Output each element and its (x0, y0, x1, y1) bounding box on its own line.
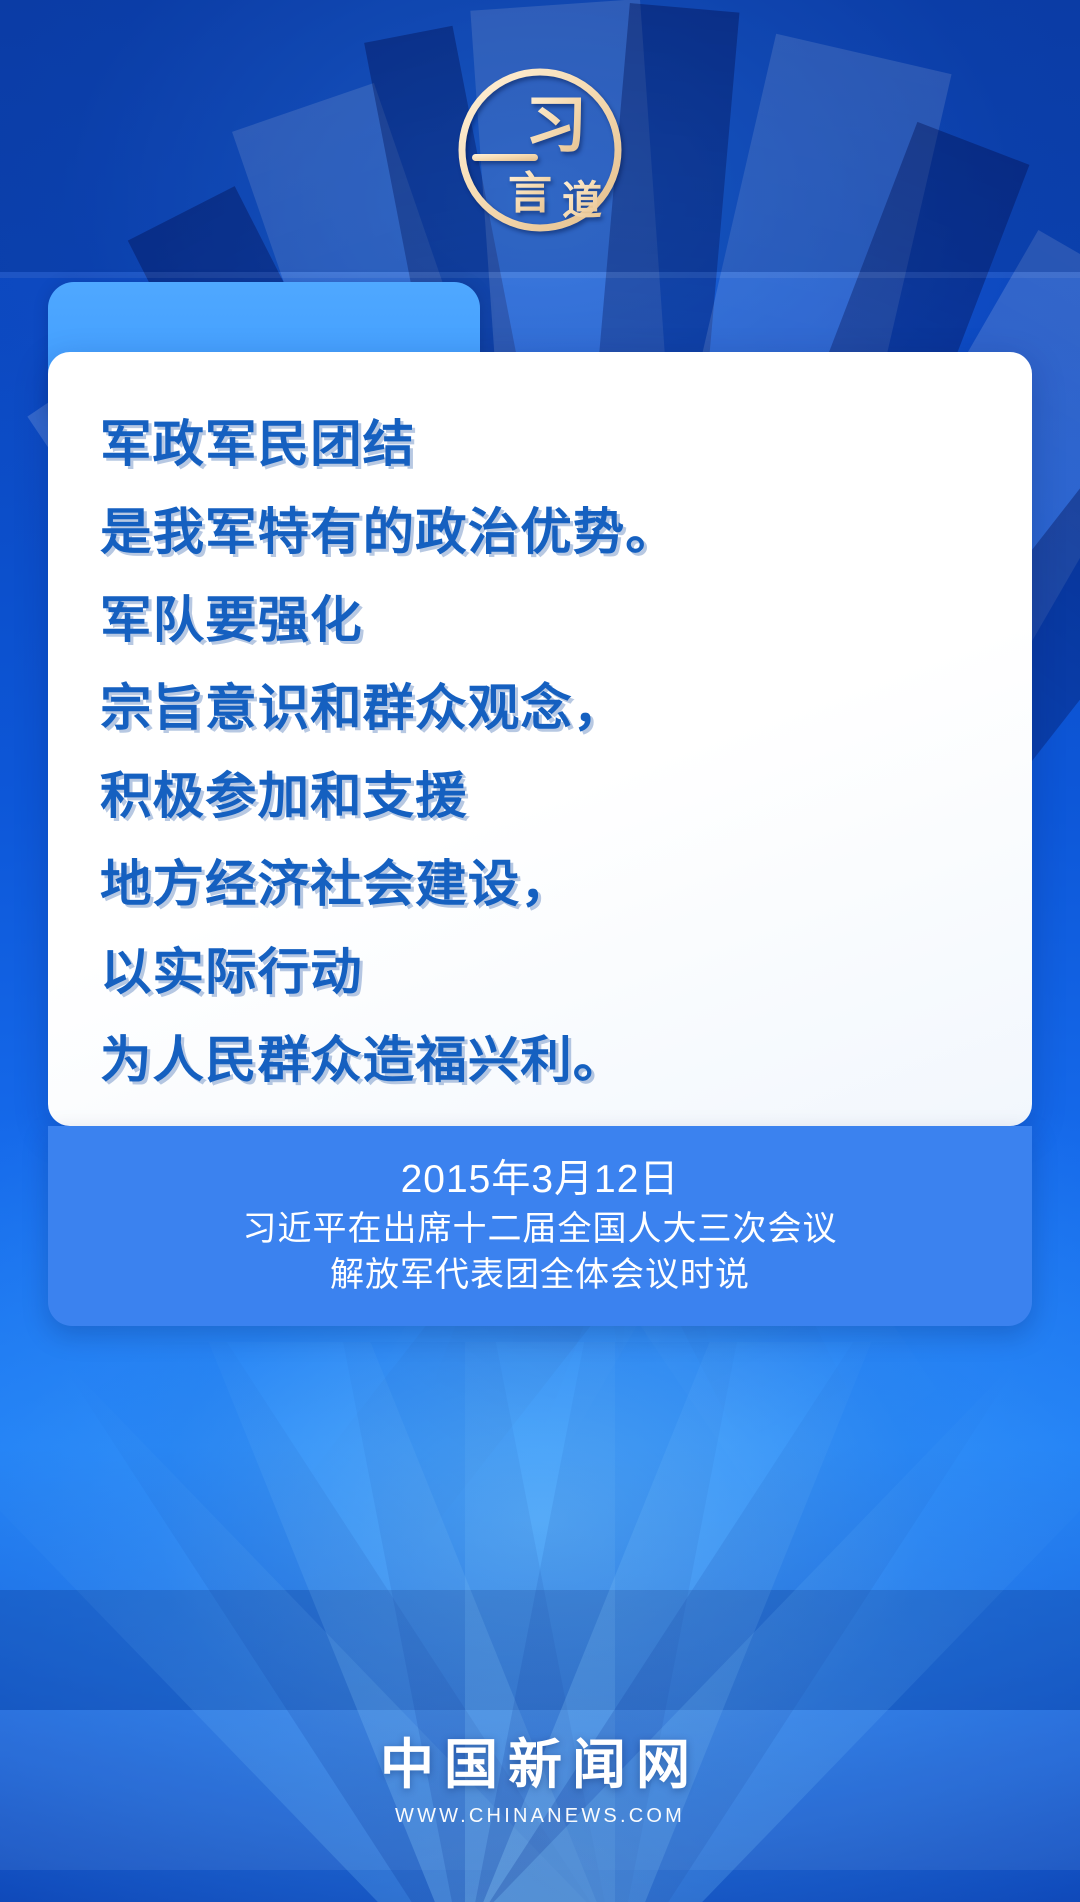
caption-date: 2015年3月12日 (401, 1154, 680, 1206)
caption-source-line-1: 习近平在出席十二届全国人大三次会议 (243, 1206, 838, 1252)
quote-card: 军政军民团结 是我军特有的政治优势。 军队要强化 宗旨意识和群众观念， 积极参加… (48, 352, 1032, 1126)
caption-box: 2015年3月12日 习近平在出席十二届全国人大三次会议 解放军代表团全体会议时… (48, 1126, 1032, 1326)
quote-line: 为人民群众造福兴利。 (100, 1016, 1029, 1104)
quote-line: 地方经济社会建设， (100, 840, 1029, 928)
brand-footer: 中国新闻网 WWW.CHINANEWS.COM (0, 1733, 1080, 1828)
seal-bar (472, 154, 538, 161)
quote-line: 军队要强化 (100, 576, 1029, 664)
band-edge-1 (0, 272, 1080, 278)
quote-line: 宗旨意识和群众观念， (100, 664, 1029, 752)
brand-url: WWW.CHINANEWS.COM (0, 1805, 1080, 1828)
caption-source-line-2: 解放军代表团全体会议时说 (330, 1252, 750, 1298)
quote-line: 积极参加和支援 (100, 752, 1029, 840)
seal-char-dao: 道 (562, 178, 602, 224)
seal-char-yan: 言 (508, 168, 552, 219)
quote-line: 是我军特有的政治优势。 (100, 488, 1029, 576)
quote-text: 军政军民团结 是我军特有的政治优势。 军队要强化 宗旨意识和群众观念， 积极参加… (100, 400, 1002, 1104)
quote-line: 军政军民团结 (100, 400, 1029, 488)
seal-char-xi: 习 (525, 88, 587, 161)
poster-root: 习 言 道 军政军民团结 是我军特有的政治优势。 军队要强化 宗旨意识和群众观念… (0, 0, 1080, 1902)
xi-yan-dao-seal-logo: 习 言 道 (448, 58, 632, 242)
quote-line: 以实际行动 (100, 928, 1029, 1016)
brand-name: 中国新闻网 (0, 1733, 1080, 1795)
